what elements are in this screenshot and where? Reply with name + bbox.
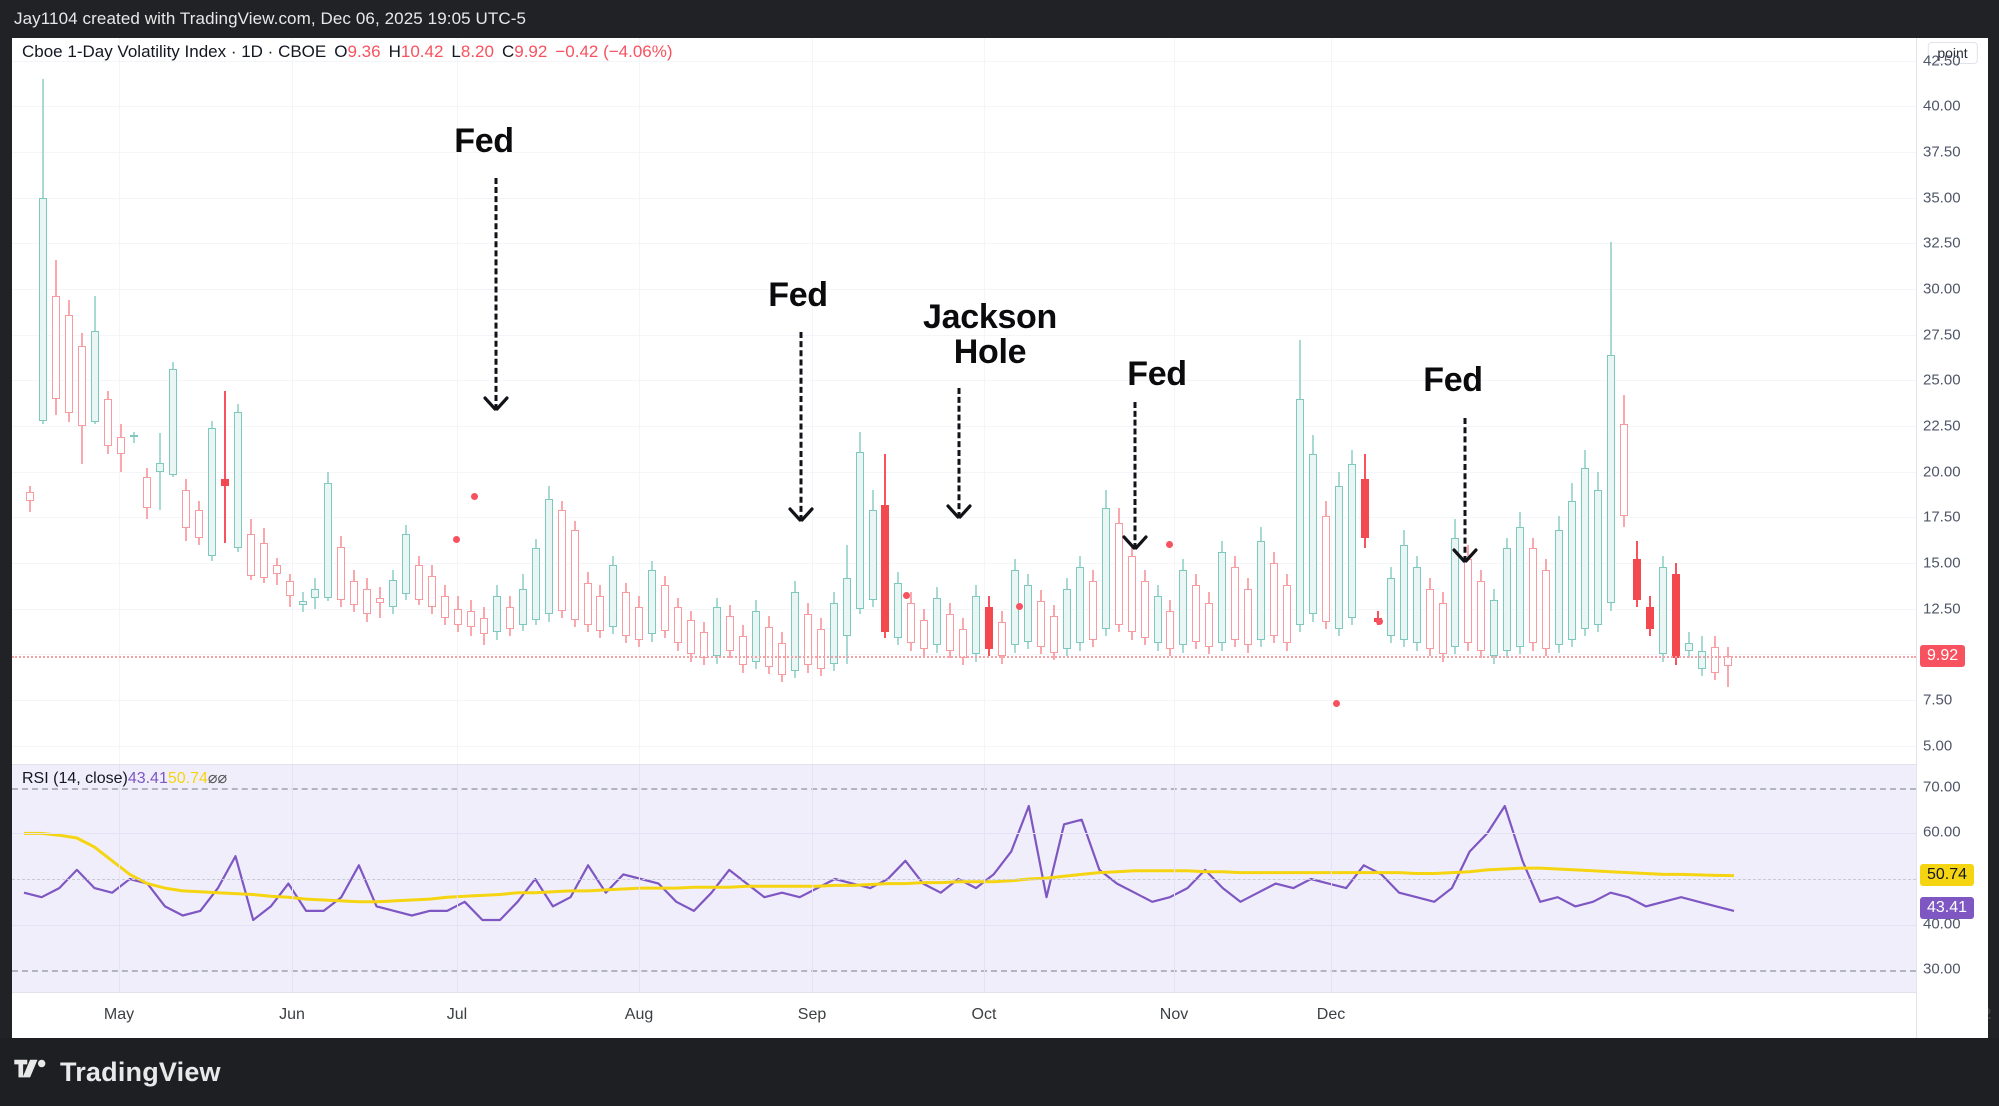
candle-body xyxy=(1192,585,1200,642)
price-marker-dot xyxy=(1376,618,1383,625)
candle-body xyxy=(1309,454,1317,615)
candle-body xyxy=(234,412,242,549)
candle-body xyxy=(532,548,540,619)
candle-body xyxy=(1128,556,1136,633)
candle-body xyxy=(869,510,877,599)
price-scale-tick: 5.00 xyxy=(1923,737,1952,754)
candle-body xyxy=(1711,647,1719,673)
candle-body xyxy=(1179,570,1187,645)
legend-low-label: L xyxy=(451,42,460,61)
candle-body xyxy=(1620,424,1628,515)
price-scale-tick: 30.00 xyxy=(1923,281,1961,298)
candle-body xyxy=(830,603,838,663)
candle-body xyxy=(130,435,138,437)
candle-body xyxy=(1516,527,1524,648)
price-scale-tick: 27.50 xyxy=(1923,326,1961,343)
time-scale-tick: Oct xyxy=(972,1006,997,1024)
time-scale-tick: May xyxy=(104,1006,134,1024)
rsi-series-rsi xyxy=(24,806,1734,920)
candle-body xyxy=(648,570,656,634)
candle-body xyxy=(674,607,682,644)
legend-change: −0.42 (−4.06%) xyxy=(555,42,672,61)
candle-body xyxy=(1283,585,1291,643)
gridline xyxy=(12,472,1916,473)
gridline xyxy=(12,700,1916,701)
annotation-fed-1-leader-line xyxy=(495,178,498,410)
candle-body xyxy=(143,477,151,508)
candle-body xyxy=(622,592,630,636)
gridline xyxy=(1174,765,1175,992)
candle-body xyxy=(584,583,592,625)
rsi-band-line xyxy=(12,788,1916,790)
legend-low-value: 8.20 xyxy=(461,42,494,61)
gridline xyxy=(12,198,1916,199)
candle-body xyxy=(195,510,203,537)
last-price-dotted-line xyxy=(12,656,1916,658)
candle-body xyxy=(350,581,358,605)
rsi-band-line xyxy=(12,970,1916,972)
annotation-fed-2-leader-line xyxy=(800,332,803,521)
price-scale-tick: 12.50 xyxy=(1923,600,1961,617)
candle-body xyxy=(441,596,449,618)
candle-body xyxy=(1464,559,1472,643)
candle-body xyxy=(635,607,643,640)
candle-body xyxy=(428,576,436,607)
rsi-indicator-plot[interactable] xyxy=(12,764,1916,992)
candle-body xyxy=(247,534,255,576)
candle-body xyxy=(1361,479,1369,537)
time-scale-tick: Sep xyxy=(798,1006,826,1024)
candle-body xyxy=(817,629,825,669)
annotation-jackson-hole-label: Jackson Hole xyxy=(923,300,1057,371)
candle-body xyxy=(920,620,928,649)
gridline xyxy=(12,106,1916,107)
candle-body xyxy=(1231,567,1239,640)
candle-body xyxy=(1218,552,1226,643)
tradingview-branding: TradingView xyxy=(0,1038,1999,1106)
price-scale-tick: 42.50 xyxy=(1923,52,1961,69)
rsi-scale-tick: 30.00 xyxy=(1923,961,1961,978)
candle-body xyxy=(1413,567,1421,644)
rsi-scale-tick: 60.00 xyxy=(1923,824,1961,841)
rsi-scale-tick: 70.00 xyxy=(1923,778,1961,795)
candle-body xyxy=(39,198,47,421)
attribution-text: Jay1104 created with TradingView.com, De… xyxy=(0,0,1999,38)
candle-body xyxy=(117,437,125,453)
candle-body xyxy=(1607,355,1615,603)
candle-body xyxy=(1205,603,1213,647)
annotation-fed-2-arrow-icon xyxy=(788,507,814,523)
rsi-legend[interactable]: RSI (14, close)43.4150.74⌀⌀ xyxy=(22,768,227,788)
gridline xyxy=(639,765,640,992)
candle-body xyxy=(156,463,164,472)
legend-close-value: 9.92 xyxy=(514,42,547,61)
candle-body xyxy=(52,296,60,398)
candle-body xyxy=(1529,548,1537,643)
candle-body xyxy=(363,589,371,615)
candle-body xyxy=(700,632,708,658)
candle-body xyxy=(972,596,980,654)
candle-body xyxy=(104,399,112,446)
price-scale-tick: 35.00 xyxy=(1923,189,1961,206)
annotation-jackson-hole-arrow-icon xyxy=(946,504,972,520)
candle-body xyxy=(26,492,34,501)
candle-body xyxy=(907,603,915,643)
candle-body xyxy=(273,565,281,574)
time-scale-tick: Jun xyxy=(279,1006,305,1024)
gridline xyxy=(12,380,1916,381)
annotation-fed-3-arrow-icon xyxy=(1122,535,1148,551)
gridline xyxy=(12,833,1916,834)
gridline xyxy=(812,765,813,992)
price-scale-tick: 40.00 xyxy=(1923,98,1961,115)
rsi-midline xyxy=(12,879,1916,880)
candle-body xyxy=(739,636,747,665)
rsi-legend-value: 43.41 xyxy=(128,770,168,787)
annotation-fed-4-arrow-icon xyxy=(1452,548,1478,564)
candle-body xyxy=(1348,464,1356,617)
price-scale-tick: 15.00 xyxy=(1923,555,1961,572)
tradingview-wordmark: TradingView xyxy=(60,1057,221,1088)
price-scale-tick: 25.00 xyxy=(1923,372,1961,389)
screenshot-root: Jay1104 created with TradingView.com, De… xyxy=(0,0,1999,1106)
gridline xyxy=(12,563,1916,564)
annotation-fed-3-leader-line xyxy=(1134,402,1137,549)
price-marker-dot xyxy=(1333,700,1340,707)
candle-body xyxy=(1166,611,1174,649)
candle-body xyxy=(415,565,423,600)
candle-body xyxy=(1581,468,1589,629)
candle-body xyxy=(1037,601,1045,647)
gridline xyxy=(12,289,1916,290)
candle-body xyxy=(545,499,553,614)
candle-body xyxy=(1076,567,1084,644)
candle-body xyxy=(687,620,695,655)
candle-body xyxy=(1503,548,1511,650)
candle-body xyxy=(221,479,229,486)
price-scale[interactable]: point 42.5040.0037.5035.0032.5030.0027.5… xyxy=(1916,38,1988,1038)
candle-body xyxy=(1322,516,1330,622)
gridline xyxy=(984,765,985,992)
rsi-legend-title: RSI (14, close) xyxy=(22,770,128,787)
gridline xyxy=(457,765,458,992)
price-scale-tick: 22.50 xyxy=(1923,418,1961,435)
gridline xyxy=(12,426,1916,427)
rsi-legend-na-2: ⌀ xyxy=(218,770,228,787)
time-scale-tick: Jul xyxy=(447,1006,467,1024)
candle-body xyxy=(1439,603,1447,654)
candle-body xyxy=(752,611,760,662)
candle-body xyxy=(856,452,864,609)
legend-symbol: Cboe 1-Day Volatility Index xyxy=(22,42,226,61)
candle-body xyxy=(571,530,579,619)
gridline xyxy=(12,746,1916,747)
candle-body xyxy=(881,505,889,633)
candle-body xyxy=(376,598,384,603)
candle-body xyxy=(609,565,617,627)
candle-body xyxy=(1089,581,1097,639)
candle-body xyxy=(1270,563,1278,636)
candle-body xyxy=(1542,570,1550,649)
legend-close-label: C xyxy=(502,42,514,61)
annotation-fed-3-label: Fed xyxy=(1127,357,1187,392)
legend-open-label: O xyxy=(334,42,347,61)
candle-body xyxy=(894,583,902,638)
candle-body xyxy=(791,592,799,671)
candle-body xyxy=(1024,585,1032,642)
price-chart-plot[interactable] xyxy=(12,38,1916,764)
candle-body xyxy=(208,428,216,556)
candle-body xyxy=(493,596,501,633)
candle-body xyxy=(1141,581,1149,638)
gridline xyxy=(1331,765,1332,992)
gridline xyxy=(292,765,293,992)
candle-body xyxy=(467,611,475,627)
candle-body xyxy=(1568,501,1576,640)
candle-body xyxy=(260,543,268,578)
annotation-jackson-hole-leader-line xyxy=(958,388,961,518)
rsi-legend-na-1: ⌀ xyxy=(208,770,218,787)
candle-wick xyxy=(1727,647,1729,688)
candle-body xyxy=(1685,643,1693,650)
gridline xyxy=(12,152,1916,153)
annotation-fed-4-label: Fed xyxy=(1423,363,1483,398)
gridline xyxy=(12,243,1916,244)
candle-body xyxy=(324,483,332,598)
candle-body xyxy=(1672,574,1680,658)
candle-body xyxy=(337,547,345,600)
candle-body xyxy=(1296,399,1304,625)
candle-body xyxy=(1050,616,1058,653)
legend-exchange: CBOE xyxy=(278,42,326,61)
candle-body xyxy=(1633,559,1641,599)
candle-body xyxy=(1257,541,1265,640)
gridline xyxy=(119,765,120,992)
last-price-badge[interactable]: 9.92 xyxy=(1920,645,1965,667)
price-marker-dot xyxy=(453,536,460,543)
candle-body xyxy=(78,346,86,426)
annotation-fed-4-leader-line xyxy=(1464,418,1467,562)
candle-body xyxy=(1244,589,1252,646)
candle-body xyxy=(959,629,967,658)
candle-body xyxy=(311,589,319,598)
rsi-legend-ma-value: 50.74 xyxy=(168,770,208,787)
candle-body xyxy=(1490,600,1498,657)
time-scale-tick: Aug xyxy=(625,1006,653,1024)
candle-body xyxy=(1659,567,1667,655)
price-marker-dot xyxy=(1166,541,1173,548)
candle-body xyxy=(1646,607,1654,629)
candle-body xyxy=(286,581,294,596)
price-scale-tick: 37.50 xyxy=(1923,144,1961,161)
candle-body xyxy=(1387,578,1395,636)
rsi-value-badge[interactable]: 50.74 xyxy=(1920,864,1974,886)
candle-body xyxy=(946,614,954,651)
candle-body xyxy=(765,627,773,667)
candle-body xyxy=(169,369,177,475)
candle-body xyxy=(480,618,488,634)
price-scale-tick: 17.50 xyxy=(1923,509,1961,526)
candle-body xyxy=(1335,486,1343,628)
candle-body xyxy=(1698,651,1706,669)
gridline xyxy=(12,609,1916,610)
candle-body xyxy=(65,315,73,414)
legend-sep-2: · xyxy=(263,42,278,61)
candle-body xyxy=(713,607,721,656)
candle-body xyxy=(778,643,786,674)
legend-high-label: H xyxy=(389,42,401,61)
candle-body xyxy=(998,622,1006,657)
gridline xyxy=(12,925,1916,926)
legend-interval: 1D xyxy=(241,42,263,61)
candle-body xyxy=(1102,508,1110,629)
price-scale-tick: 32.50 xyxy=(1923,235,1961,252)
candle-body xyxy=(182,490,190,528)
rsi-value-badge[interactable]: 43.41 xyxy=(1920,897,1974,919)
candle-body xyxy=(843,578,851,636)
candle-body xyxy=(299,601,307,605)
annotation-fed-1-arrow-icon xyxy=(483,396,509,412)
annotation-fed-2-label: Fed xyxy=(768,278,828,313)
candle-body xyxy=(726,616,734,651)
legend-open-value: 9.36 xyxy=(347,42,380,61)
legend-high-value: 10.42 xyxy=(401,42,444,61)
candle-body xyxy=(985,607,993,649)
candle-body xyxy=(1477,581,1485,650)
price-scale-tick: 20.00 xyxy=(1923,463,1961,480)
candle-body xyxy=(1063,589,1071,649)
candle-body xyxy=(402,534,410,594)
candle-wick xyxy=(224,391,226,543)
candle-body xyxy=(661,585,669,631)
candle-body xyxy=(1154,596,1162,643)
chart-panel: Cboe 1-Day Volatility Index · 1D · CBOEO… xyxy=(12,38,1988,1038)
candle-body xyxy=(1555,530,1563,645)
time-scale-tick: Nov xyxy=(1160,1006,1188,1024)
legend-sep-1: · xyxy=(226,42,241,61)
time-scale-tick: Dec xyxy=(1317,1006,1345,1024)
chart-legend[interactable]: Cboe 1-Day Volatility Index · 1D · CBOEO… xyxy=(22,42,673,62)
candle-body xyxy=(389,580,397,607)
time-scale[interactable]: MayJunJulAugSepOctNovDec202 xyxy=(12,992,1988,1038)
candle-body xyxy=(506,607,514,629)
price-scale-tick: 7.50 xyxy=(1923,692,1952,709)
tradingview-logo-icon xyxy=(14,1057,48,1088)
candle-body xyxy=(1426,589,1434,649)
price-marker-dot xyxy=(1016,603,1023,610)
price-marker-dot xyxy=(903,592,910,599)
candle-body xyxy=(1400,545,1408,640)
candle-body xyxy=(454,609,462,625)
price-marker-dot xyxy=(471,493,478,500)
candle-body xyxy=(558,510,566,610)
candle-body xyxy=(519,589,527,626)
candle-body xyxy=(1594,490,1602,625)
candle-body xyxy=(933,598,941,645)
annotation-fed-1-label: Fed xyxy=(454,124,514,159)
candle-body xyxy=(91,331,99,422)
candle-body xyxy=(596,596,604,631)
